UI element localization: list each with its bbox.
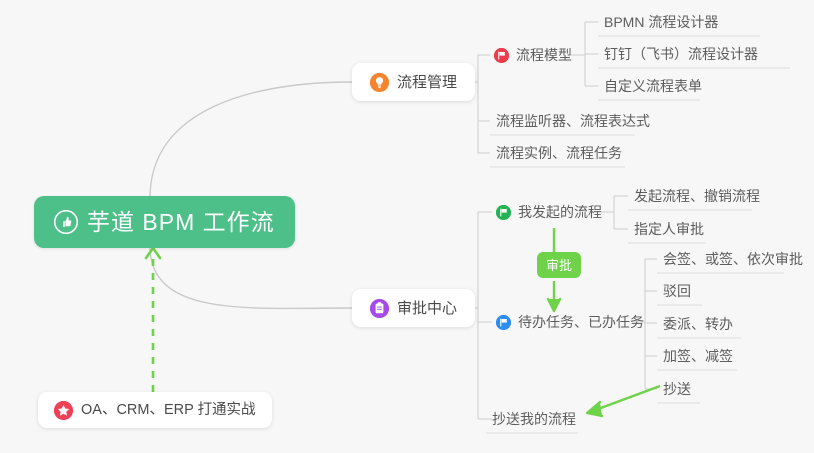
node-listener-expression[interactable]: 流程监听器、流程表达式 [490,107,656,135]
node-label: 抄送我的流程 [492,412,576,426]
flag-red-icon [494,48,509,63]
flag-green-icon [496,205,511,220]
node-add-remove-sign[interactable]: 加签、减签 [657,342,739,370]
node-label: 发起流程、撤销流程 [634,189,760,203]
node-reject[interactable]: 驳回 [657,277,697,305]
node-cc[interactable]: 抄送 [657,375,697,403]
thumbs-up-icon [54,210,78,234]
flag-blue-icon [496,315,511,330]
node-label: BPMN 流程设计器 [604,15,718,29]
branch-label: 审批中心 [397,301,457,316]
note-node[interactable]: OA、CRM、ERP 打通实战 [38,392,272,428]
approval-tag[interactable]: 审批 [537,252,581,278]
branch-label: 流程管理 [397,75,457,90]
node-assignee-approval[interactable]: 指定人审批 [628,215,710,243]
node-delegate-transfer[interactable]: 委派、转办 [657,310,739,338]
node-label: 加签、减签 [663,349,733,363]
link-root-to-process-management [150,82,352,198]
node-bpmn-designer[interactable]: BPMN 流程设计器 [598,8,724,36]
root-node[interactable]: 芋道 BPM 工作流 [34,196,295,248]
node-label: 会签、或签、依次审批 [663,252,803,266]
node-dingtalk-feishu-designer[interactable]: 钉钉（飞书）流程设计器 [598,40,764,68]
branch-process-management[interactable]: 流程管理 [352,63,475,101]
node-label: 流程监听器、流程表达式 [496,114,650,128]
node-label: 驳回 [663,284,691,298]
node-label: 我发起的流程 [518,205,602,219]
node-label: 待办任务、已办任务 [518,315,644,329]
node-label: 钉钉（飞书）流程设计器 [604,47,758,61]
node-instance-task[interactable]: 流程实例、流程任务 [490,139,628,167]
branch-approval-center[interactable]: 审批中心 [352,289,475,327]
root-label: 芋道 BPM 工作流 [87,211,275,234]
clipboard-icon [370,299,389,318]
green-arrow-cc [587,386,660,416]
node-label: 流程实例、流程任务 [496,146,622,160]
node-todo-done[interactable]: 待办任务、已办任务 [492,308,648,336]
node-label: 委派、转办 [663,317,733,331]
node-label: 指定人审批 [634,222,704,236]
star-icon [54,401,73,420]
node-label: 抄送 [663,382,691,396]
green-dashed-arrow [146,248,160,392]
node-custom-process-form[interactable]: 自定义流程表单 [598,72,708,100]
node-cc-to-me[interactable]: 抄送我的流程 [486,405,582,433]
node-start-cancel[interactable]: 发起流程、撤销流程 [628,182,766,210]
lightbulb-icon [370,73,389,92]
link-root-to-approval-center [150,246,352,308]
mindmap-canvas: 芋道 BPM 工作流 OA、CRM、ERP 打通实战 流程管理 [0,0,814,453]
node-label: 流程模型 [516,48,572,62]
note-label: OA、CRM、ERP 打通实战 [81,403,256,418]
node-countersign[interactable]: 会签、或签、依次审批 [657,245,809,273]
node-label: 自定义流程表单 [604,79,702,93]
node-my-initiated[interactable]: 我发起的流程 [492,198,606,226]
tag-label: 审批 [546,259,572,272]
node-process-model[interactable]: 流程模型 [490,41,576,69]
